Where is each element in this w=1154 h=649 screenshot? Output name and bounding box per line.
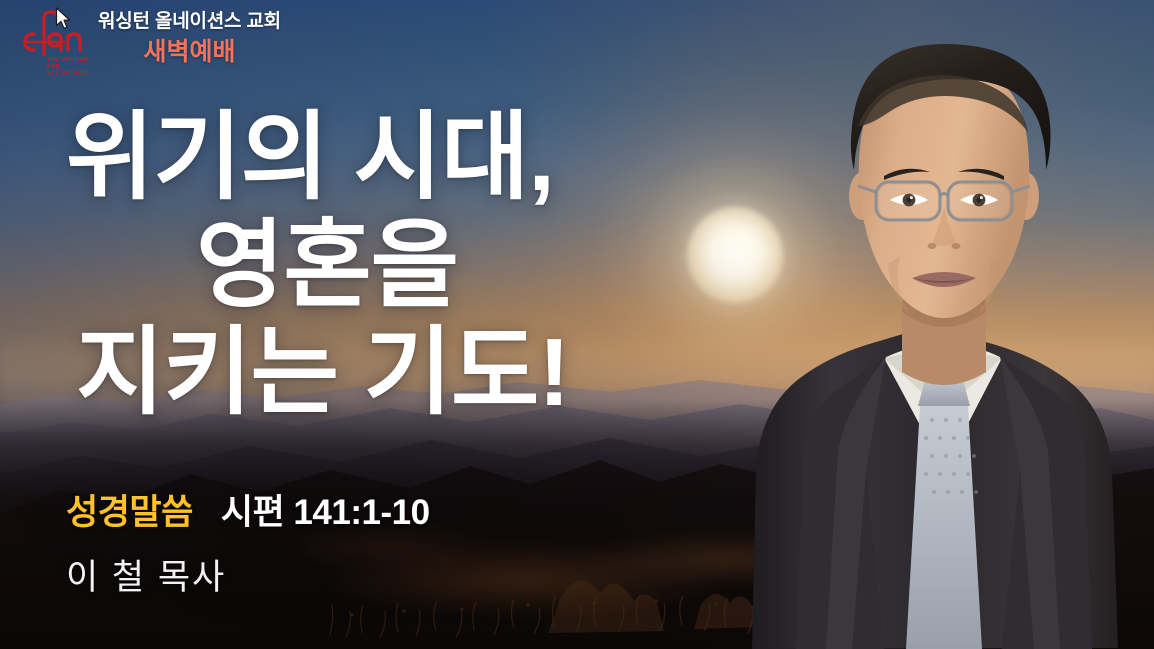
scripture-row: 성경말씀 시편 141:1-10 bbox=[66, 484, 430, 535]
speaker-portrait bbox=[734, 0, 1154, 649]
scripture-reference: 시편 141:1-10 bbox=[221, 484, 430, 535]
church-name: 워싱턴 올네이션스 교회 bbox=[98, 12, 281, 33]
sermon-title-line-1: 위기의 시대, bbox=[0, 104, 660, 212]
sermon-title-line-3: 지키는 기도! bbox=[0, 319, 660, 427]
svg-text:ALL NATIONS: ALL NATIONS bbox=[47, 71, 89, 77]
sermon-title: 위기의 시대, 영혼을 지키는 기도! bbox=[0, 104, 660, 427]
cfan-logo: THE CHURCH FOR ALL NATIONS bbox=[14, 8, 92, 82]
speaker-name: 이 철 목사 bbox=[66, 549, 226, 600]
sermon-title-line-2: 영혼을 bbox=[0, 212, 660, 320]
scripture-label: 성경말씀 bbox=[66, 484, 193, 535]
svg-text:FOR: FOR bbox=[47, 64, 60, 70]
sermon-title-slide: THE CHURCH FOR ALL NATIONS 워싱턴 올네이션스 교회 … bbox=[0, 0, 1154, 649]
svg-text:THE CHURCH: THE CHURCH bbox=[47, 57, 88, 63]
service-name: 새벽예배 bbox=[98, 39, 281, 65]
header-text-block: 워싱턴 올네이션스 교회 새벽예배 bbox=[98, 8, 281, 65]
header: THE CHURCH FOR ALL NATIONS 워싱턴 올네이션스 교회 … bbox=[0, 0, 281, 82]
